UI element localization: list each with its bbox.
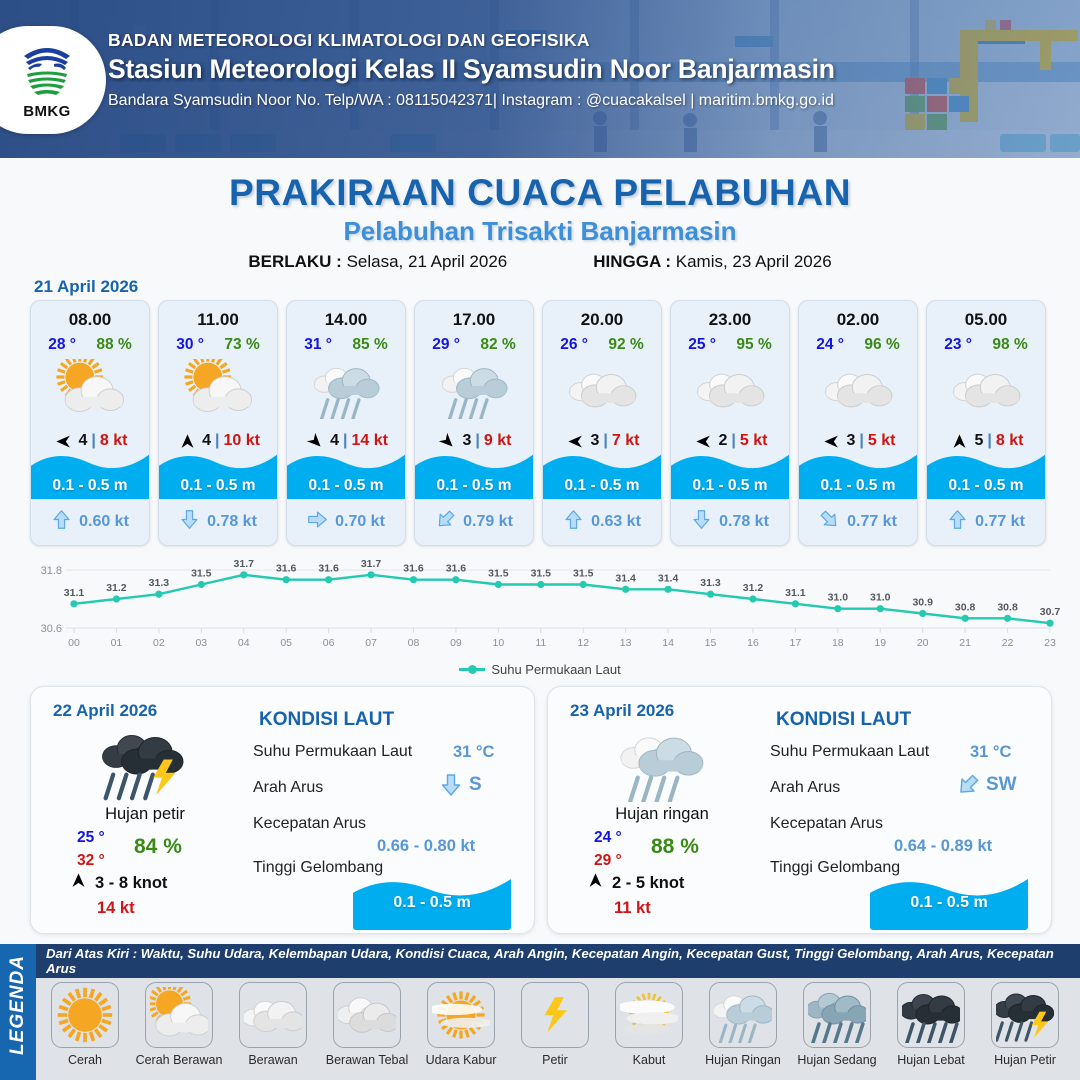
legend-note: Dari Atas Kiri : Waktu, Suhu Udara, Kele…: [36, 944, 1080, 978]
legend-item-label: Cerah: [68, 1053, 102, 1067]
panel-current-speed-value: 0.66 - 0.80 kt: [377, 837, 475, 856]
card-current: 0.77 kt: [799, 509, 917, 535]
svg-text:30.9: 30.9: [912, 597, 933, 609]
card-humidity: 82 %: [480, 336, 515, 354]
valid-from: BERLAKU : Selasa, 21 April 2026: [248, 252, 507, 272]
svg-text:30.7: 30.7: [1040, 606, 1060, 618]
panel-humidity: 84 %: [134, 835, 182, 859]
card-temperature: 24 °: [816, 336, 844, 354]
panel-temp-min: 25 °: [77, 829, 105, 847]
panel-sst-value: 31 °C: [970, 743, 1011, 762]
berawan-icon: [927, 358, 1045, 420]
card-current-direction: [307, 509, 328, 535]
panel-current-speed-label: Kecepatan Arus: [253, 815, 366, 833]
panel-gust: 11 kt: [614, 899, 651, 918]
daily-forecast-panel[interactable]: 22 April 2026 Hujan petir 25 ° 32 ° 84 %…: [30, 686, 535, 934]
svg-text:07: 07: [365, 637, 377, 649]
berawan-icon: [543, 358, 661, 420]
chart-legend: Suhu Permukaan Laut: [0, 662, 1080, 677]
card-humidity: 98 %: [992, 336, 1027, 354]
card-temperature: 28 °: [48, 336, 76, 354]
svg-text:31.1: 31.1: [785, 587, 806, 599]
card-time: 20.00: [543, 310, 661, 330]
card-temp-humidity: 30 ° 73 %: [159, 336, 277, 354]
svg-text:31.6: 31.6: [446, 563, 467, 575]
card-temperature: 31 °: [304, 336, 332, 354]
svg-text:31.6: 31.6: [403, 563, 424, 575]
card-wave-height: 0.1 - 0.5 m: [159, 477, 277, 495]
svg-text:16: 16: [747, 637, 759, 649]
hourly-card[interactable]: 17.00 29 ° 82 % 3 | 9 kt 0.1 - 0.5 m 0.7…: [414, 300, 534, 546]
kabut-icon: [615, 982, 683, 1048]
panel-wind-direction: [69, 871, 88, 895]
wind-direction-S-icon: [69, 871, 88, 890]
panel-current-dir-value: SW: [986, 774, 1017, 796]
card-temp-humidity: 23 ° 98 %: [927, 336, 1045, 354]
hujan-ringan-icon: [287, 358, 405, 420]
card-humidity: 95 %: [736, 336, 771, 354]
panel-humidity: 88 %: [651, 835, 699, 859]
card-time: 23.00: [671, 310, 789, 330]
svg-text:18: 18: [832, 637, 844, 649]
current-direction-SW-icon: [956, 773, 980, 797]
svg-text:03: 03: [195, 637, 207, 649]
legend-item-label: Hujan Lebat: [897, 1053, 964, 1067]
svg-text:31.4: 31.4: [658, 572, 679, 584]
current-direction-S-icon: [691, 509, 712, 530]
legend-item-label: Berawan Tebal: [326, 1053, 408, 1067]
svg-text:04: 04: [238, 637, 250, 649]
panel-current-dir-value: S: [469, 774, 482, 796]
valid-from-label: BERLAKU :: [248, 252, 342, 271]
wind-direction-S-icon: [586, 871, 605, 890]
panel-current-dir-label: Arah Arus: [770, 779, 840, 797]
daily-forecast-panel[interactable]: 23 April 2026 Hujan ringan 24 ° 29 ° 88 …: [547, 686, 1052, 934]
svg-text:31.5: 31.5: [191, 568, 212, 580]
svg-text:12: 12: [577, 637, 589, 649]
card-temperature: 26 °: [560, 336, 588, 354]
svg-text:31.5: 31.5: [488, 568, 509, 580]
panel-temp-min: 24 °: [594, 829, 622, 847]
panel-temp-max: 32 °: [77, 852, 105, 870]
panel-current-direction: SW: [956, 773, 1017, 797]
legend-item: Berawan Tebal: [322, 982, 412, 1067]
card-temperature: 29 °: [432, 336, 460, 354]
hourly-card[interactable]: 08.00 28 ° 88 % 4 | 8 kt 0.1 - 0.5 m 0.6…: [30, 300, 150, 546]
card-current: 0.78 kt: [671, 509, 789, 535]
panel-wind-range: 3 - 8 knot: [95, 874, 167, 893]
card-current: 0.63 kt: [543, 509, 661, 535]
hourly-card[interactable]: 05.00 23 ° 98 % 5 | 8 kt 0.1 - 0.5 m 0.7…: [926, 300, 1046, 546]
legend-tab-label: LEGENDA: [7, 937, 29, 1073]
valid-from-value: Selasa, 21 April 2026: [347, 252, 508, 271]
panel-sea-title: KONDISI LAUT: [259, 709, 394, 731]
bmkg-logo-text: BMKG: [23, 103, 70, 120]
card-time: 14.00: [287, 310, 405, 330]
panel-condition: Hujan petir: [45, 805, 245, 824]
svg-text:17: 17: [790, 637, 802, 649]
svg-text:31.8: 31.8: [41, 565, 62, 577]
legend-item: Hujan Lebat: [886, 982, 976, 1067]
svg-text:31.6: 31.6: [276, 563, 297, 575]
card-time: 17.00: [415, 310, 533, 330]
valid-to-label: HINGGA :: [593, 252, 671, 271]
hujan-petir-icon: [991, 982, 1059, 1048]
svg-text:31.3: 31.3: [149, 577, 170, 589]
panel-wave-value: 0.1 - 0.5 m: [870, 894, 1028, 912]
panel-current-direction: S: [439, 773, 482, 797]
svg-text:11: 11: [535, 637, 546, 649]
svg-text:31.1: 31.1: [64, 587, 85, 599]
svg-text:09: 09: [450, 637, 462, 649]
card-current-speed: 0.70 kt: [335, 513, 385, 531]
svg-text:10: 10: [493, 637, 505, 649]
page-subtitle: Pelabuhan Trisakti Banjarmasin: [0, 216, 1080, 247]
legend-item: Hujan Sedang: [792, 982, 882, 1067]
card-wave-height: 0.1 - 0.5 m: [287, 477, 405, 495]
legend-item: Hujan Petir: [980, 982, 1070, 1067]
card-wave-height: 0.1 - 0.5 m: [543, 477, 661, 495]
svg-text:21: 21: [959, 637, 971, 649]
panel-sea-title: KONDISI LAUT: [776, 709, 911, 731]
card-current-speed: 0.77 kt: [975, 513, 1025, 531]
cerah-berawan-icon: [145, 982, 213, 1048]
page-title: PRAKIRAAN CUACA PELABUHAN: [0, 172, 1080, 214]
svg-text:31.0: 31.0: [870, 592, 891, 604]
card-temp-humidity: 31 ° 85 %: [287, 336, 405, 354]
legend-item-label: Udara Kabur: [426, 1053, 497, 1067]
card-temp-humidity: 24 ° 96 %: [799, 336, 917, 354]
petir-icon: [521, 982, 589, 1048]
svg-text:31.6: 31.6: [318, 563, 339, 575]
svg-text:06: 06: [323, 637, 335, 649]
daily-forecast-row: 22 April 2026 Hujan petir 25 ° 32 ° 84 %…: [30, 686, 1052, 934]
valid-to-value: Kamis, 23 April 2026: [676, 252, 832, 271]
svg-text:02: 02: [153, 637, 165, 649]
card-wave-height: 0.1 - 0.5 m: [31, 477, 149, 495]
card-current-direction: [563, 509, 584, 535]
card-wave-height: 0.1 - 0.5 m: [671, 477, 789, 495]
panel-temps: 24 ° 29 °: [594, 829, 622, 870]
legend-tab: LEGENDA: [0, 944, 36, 1080]
berawan-tebal-icon: [333, 982, 401, 1048]
legend-item: Udara Kabur: [416, 982, 506, 1067]
cerah-berawan-icon: [159, 358, 277, 420]
card-temp-humidity: 25 ° 95 %: [671, 336, 789, 354]
legend-item-label: Berawan: [248, 1053, 297, 1067]
hourly-card[interactable]: 02.00 24 ° 96 % 3 | 5 kt 0.1 - 0.5 m 0.7…: [798, 300, 918, 546]
panel-sst-label: Suhu Permukaan Laut: [770, 743, 929, 761]
panel-current-speed-label: Kecepatan Arus: [770, 815, 883, 833]
card-current-direction: [691, 509, 712, 535]
card-humidity: 88 %: [96, 336, 131, 354]
card-current-speed: 0.60 kt: [79, 513, 129, 531]
legend-item: Hujan Ringan: [698, 982, 788, 1067]
current-direction-N-icon: [51, 509, 72, 530]
card-current-speed: 0.78 kt: [719, 513, 769, 531]
svg-text:31.2: 31.2: [106, 582, 127, 594]
card-current-speed: 0.79 kt: [463, 513, 513, 531]
legend-item-label: Kabut: [633, 1053, 666, 1067]
card-wave-height: 0.1 - 0.5 m: [799, 477, 917, 495]
svg-text:20: 20: [917, 637, 929, 649]
sst-line-chart: 31.830.600010203040506070809101112131415…: [22, 556, 1060, 656]
legend-item-label: Hujan Ringan: [705, 1053, 781, 1067]
hourly-card[interactable]: 11.00 30 ° 73 % 4 | 10 kt 0.1 - 0.5 m 0.…: [158, 300, 278, 546]
panel-gust: 14 kt: [97, 899, 135, 918]
bmkg-emblem-icon: [14, 36, 80, 102]
svg-text:31.7: 31.7: [361, 558, 382, 570]
panel-current-speed-value: 0.64 - 0.89 kt: [894, 837, 992, 856]
svg-text:31.0: 31.0: [828, 592, 849, 604]
panel-current-dir-label: Arah Arus: [253, 779, 323, 797]
card-wave-height: 0.1 - 0.5 m: [927, 477, 1045, 495]
card-current-direction: [51, 509, 72, 535]
legend-item-label: Petir: [542, 1053, 568, 1067]
card-time: 11.00: [159, 310, 277, 330]
svg-text:05: 05: [280, 637, 292, 649]
legend-item: Kabut: [604, 982, 694, 1067]
hujan-ringan-icon: [415, 358, 533, 420]
card-time: 08.00: [31, 310, 149, 330]
card-humidity: 96 %: [864, 336, 899, 354]
card-current: 0.78 kt: [159, 509, 277, 535]
panel-wind-range: 2 - 5 knot: [612, 874, 684, 893]
udara-kabur-icon: [427, 982, 495, 1048]
berawan-icon: [671, 358, 789, 420]
svg-text:14: 14: [662, 637, 674, 649]
chart-legend-marker-icon: [459, 668, 485, 671]
legend-item: Cerah: [40, 982, 130, 1067]
svg-text:00: 00: [68, 637, 80, 649]
chart-legend-label: Suhu Permukaan Laut: [491, 662, 620, 677]
hujan-ringan-icon: [709, 982, 777, 1048]
current-direction-E-icon: [307, 509, 328, 530]
panel-temps: 25 ° 32 °: [77, 829, 105, 870]
card-time: 05.00: [927, 310, 1045, 330]
card-temp-humidity: 26 ° 92 %: [543, 336, 661, 354]
svg-text:08: 08: [408, 637, 420, 649]
legend-items: Cerah Cerah Berawan Berawan Berawan Teba…: [36, 982, 1080, 1067]
card-current: 0.70 kt: [287, 509, 405, 535]
card-humidity: 73 %: [224, 336, 259, 354]
svg-text:31.3: 31.3: [700, 577, 721, 589]
card-current-direction: [435, 509, 456, 535]
header-text-block: BADAN METEOROLOGI KLIMATOLOGI DAN GEOFIS…: [108, 30, 835, 110]
panel-wind-direction: [586, 871, 605, 895]
legend-item-label: Hujan Sedang: [797, 1053, 876, 1067]
card-current: 0.79 kt: [415, 509, 533, 535]
svg-text:30.8: 30.8: [997, 601, 1018, 613]
hourly-card[interactable]: 20.00 26 ° 92 % 3 | 7 kt 0.1 - 0.5 m 0.6…: [542, 300, 662, 546]
card-time: 02.00: [799, 310, 917, 330]
card-current-speed: 0.78 kt: [207, 513, 257, 531]
card-current-direction: [819, 509, 840, 535]
current-direction-N-icon: [947, 509, 968, 530]
svg-text:01: 01: [111, 637, 123, 649]
card-current-direction: [947, 509, 968, 535]
validity-row: BERLAKU : Selasa, 21 April 2026 HINGGA :…: [0, 252, 1080, 272]
hourly-date-label: 21 April 2026: [34, 277, 138, 297]
card-wave-height: 0.1 - 0.5 m: [415, 477, 533, 495]
panel-sst-value: 31 °C: [453, 743, 494, 762]
svg-text:31.4: 31.4: [615, 572, 636, 584]
current-direction-SW-icon: [435, 509, 456, 530]
legend-section: LEGENDA Dari Atas Kiri : Waktu, Suhu Uda…: [0, 944, 1080, 1080]
panel-wind: 2 - 5 knot: [586, 871, 684, 895]
agency-name: BADAN METEOROLOGI KLIMATOLOGI DAN GEOFIS…: [108, 30, 835, 51]
card-current: 0.60 kt: [31, 509, 149, 535]
svg-text:22: 22: [1002, 637, 1014, 649]
card-current-speed: 0.63 kt: [591, 513, 641, 531]
svg-text:31.5: 31.5: [531, 568, 552, 580]
card-current-direction: [179, 509, 200, 535]
cerah-berawan-icon: [31, 358, 149, 420]
card-temperature: 30 °: [176, 336, 204, 354]
legend-item: Petir: [510, 982, 600, 1067]
svg-text:13: 13: [620, 637, 632, 649]
hourly-forecast-row: 08.00 28 ° 88 % 4 | 8 kt 0.1 - 0.5 m 0.6…: [30, 300, 1052, 546]
card-humidity: 85 %: [352, 336, 387, 354]
hujan-sedang-icon: [803, 982, 871, 1048]
svg-text:30.8: 30.8: [955, 601, 976, 613]
legend-item: Berawan: [228, 982, 318, 1067]
panel-condition: Hujan ringan: [562, 805, 762, 824]
panel-wave-value: 0.1 - 0.5 m: [353, 894, 511, 912]
svg-text:23: 23: [1044, 637, 1056, 649]
card-temp-humidity: 28 ° 88 %: [31, 336, 149, 354]
card-humidity: 92 %: [608, 336, 643, 354]
legend-item: Cerah Berawan: [134, 982, 224, 1067]
berawan-icon: [799, 358, 917, 420]
card-temperature: 23 °: [944, 336, 972, 354]
hujan-ringan-icon: [596, 725, 726, 803]
svg-text:31.5: 31.5: [573, 568, 594, 580]
hourly-card[interactable]: 23.00 25 ° 95 % 2 | 5 kt 0.1 - 0.5 m 0.7…: [670, 300, 790, 546]
current-direction-S-icon: [179, 509, 200, 530]
panel-wind: 3 - 8 knot: [69, 871, 167, 895]
current-direction-N-icon: [563, 509, 584, 530]
bmkg-logo: BMKG: [0, 26, 106, 134]
svg-text:15: 15: [705, 637, 717, 649]
legend-item-label: Hujan Petir: [994, 1053, 1056, 1067]
panel-date: 22 April 2026: [53, 701, 157, 721]
valid-to: HINGGA : Kamis, 23 April 2026: [593, 252, 831, 272]
legend-item-label: Cerah Berawan: [136, 1053, 223, 1067]
current-direction-S-icon: [439, 773, 463, 797]
cerah-icon: [51, 982, 119, 1048]
card-temperature: 25 °: [688, 336, 716, 354]
page-header: BMKG BADAN METEOROLOGI KLIMATOLOGI DAN G…: [0, 0, 1080, 158]
card-temp-humidity: 29 ° 82 %: [415, 336, 533, 354]
panel-temp-max: 29 °: [594, 852, 622, 870]
svg-text:30.6: 30.6: [41, 623, 62, 635]
current-direction-SE-icon: [819, 509, 840, 530]
svg-text:31.7: 31.7: [234, 558, 255, 570]
hujan-lebat-icon: [897, 982, 965, 1048]
card-current: 0.77 kt: [927, 509, 1045, 535]
panel-sst-label: Suhu Permukaan Laut: [253, 743, 412, 761]
hourly-card[interactable]: 14.00 31 ° 85 % 4 | 14 kt 0.1 - 0.5 m 0.…: [286, 300, 406, 546]
svg-text:19: 19: [874, 637, 886, 649]
panel-date: 23 April 2026: [570, 701, 674, 721]
station-name: Stasiun Meteorologi Kelas II Syamsudin N…: [108, 54, 835, 85]
hujan-petir-icon: [79, 725, 209, 803]
berawan-icon: [239, 982, 307, 1048]
svg-text:31.2: 31.2: [743, 582, 764, 594]
contact-line: Bandara Syamsudin Noor No. Telp/WA : 081…: [108, 92, 835, 110]
card-current-speed: 0.77 kt: [847, 513, 897, 531]
